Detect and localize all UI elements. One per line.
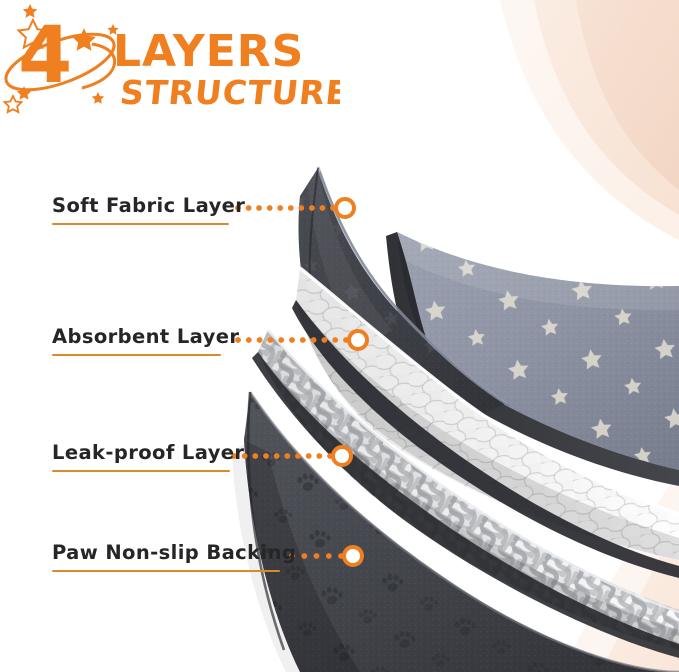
header-line-layers: LAYERS — [113, 26, 304, 77]
header-title-group: 4 LAYERS STRUCTURE — [0, 0, 340, 120]
callout-marker-soft-fabric-layer[interactable] — [334, 197, 356, 219]
callout-label: Paw Non-slip Backing — [52, 543, 296, 563]
callout-label: Leak-proof Layer — [52, 443, 244, 463]
callout-marker-absorbent-layer[interactable] — [347, 329, 369, 351]
callout-paw-non-slip-backing[interactable]: Paw Non-slip Backing — [52, 543, 296, 572]
callout-underline — [52, 223, 229, 225]
callout-absorbent-layer[interactable]: Absorbent Layer — [52, 327, 239, 356]
infographic-root: 4 LAYERS STRUCTURE Soft Fabric Layer Abs… — [0, 0, 679, 672]
callout-marker-paw-non-slip-backing[interactable] — [342, 545, 364, 567]
callout-label: Absorbent Layer — [52, 327, 239, 347]
callout-underline — [52, 570, 280, 572]
callout-leak-proof-layer[interactable]: Leak-proof Layer — [52, 443, 244, 472]
header-line-structure: STRUCTURE — [118, 73, 340, 112]
header-number: 4 — [18, 11, 72, 101]
callout-underline — [52, 470, 230, 472]
callout-label: Soft Fabric Layer — [52, 196, 245, 216]
callout-marker-leak-proof-layer[interactable] — [331, 445, 353, 467]
callout-soft-fabric-layer[interactable]: Soft Fabric Layer — [52, 196, 245, 225]
callout-underline — [52, 354, 221, 356]
star-filled-bottom-right-icon — [92, 92, 104, 104]
